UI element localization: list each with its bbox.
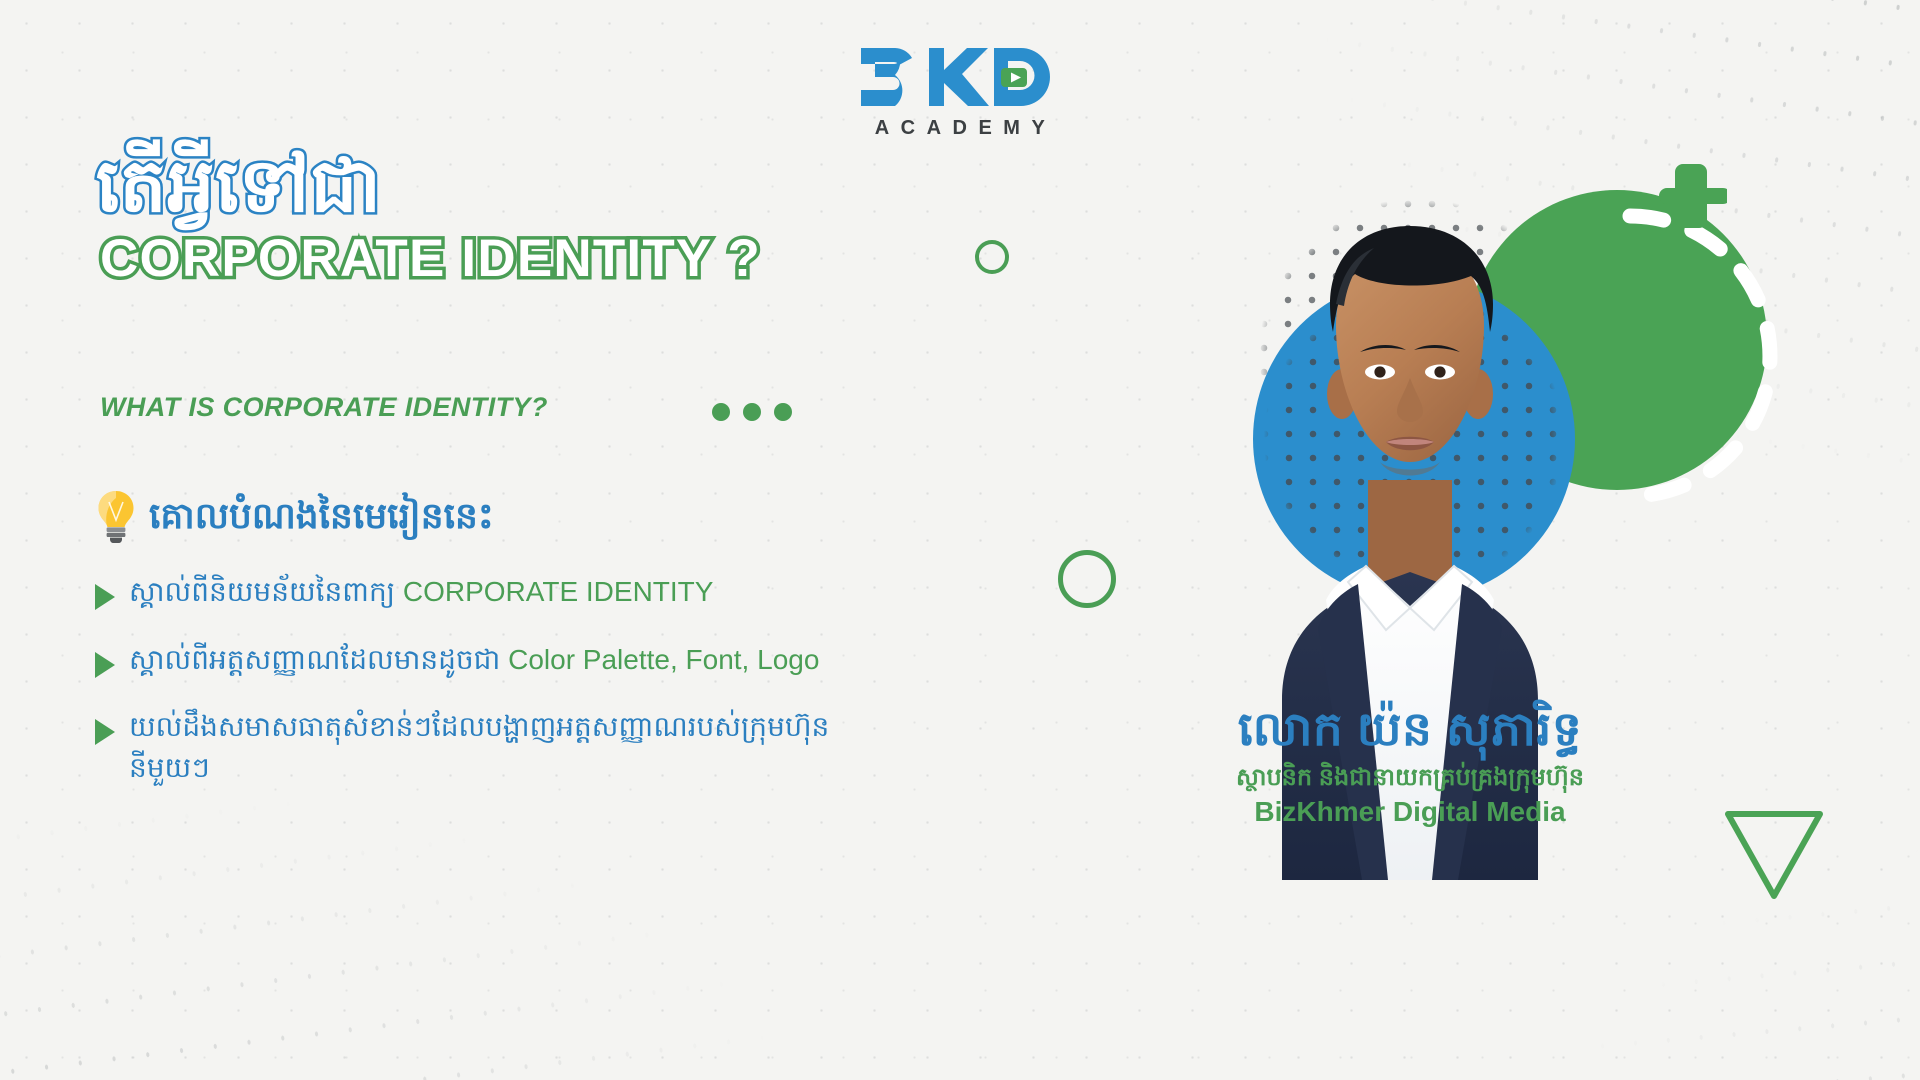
bullet-text: ស្គាល់ពីអត្តសញ្ញាណដែលមានដូចជា Color Pale… [129, 640, 819, 681]
circle-outline-icon [1058, 550, 1116, 608]
objectives-list: ស្គាល់ពីនិយមន័យនៃពាក្យ CORPORATE IDENTIT… [95, 572, 835, 815]
lightbulb-icon [95, 489, 137, 543]
subtitle-english: WHAT IS CORPORATE IDENTITY? [100, 392, 548, 423]
triangle-bullet-icon [95, 584, 115, 610]
speaker-role: ស្ថាបនិក និងជានាយកគ្រប់គ្រងក្រុមហ៊ុន [1100, 762, 1720, 794]
bullet-text: ស្គាល់ពីនិយមន័យនៃពាក្យ CORPORATE IDENTIT… [129, 572, 713, 613]
speaker-name: លោក យ៉ន សុភារិទ្ធ [1100, 700, 1720, 757]
triangle-bullet-icon [95, 652, 115, 678]
logo-wordmark: ACADEMY [855, 117, 1065, 140]
dot-3 [774, 403, 792, 421]
play-icon [1001, 68, 1027, 87]
circle-outline-icon [975, 240, 1009, 274]
plus-icon [1655, 160, 1727, 232]
list-item: យល់ដឹងសមាសធាតុសំខាន់ៗដែលបង្ហាញអត្តសញ្ញាណ… [95, 707, 835, 788]
triangle-outline-icon [1722, 806, 1826, 902]
brand-logo: ACADEMY [855, 46, 1065, 140]
triangle-bullet-icon [95, 719, 115, 745]
three-dots-icon [712, 403, 792, 421]
headline-khmer: តើអ្វីទៅជា [96, 141, 382, 231]
list-item: ស្គាល់ពីនិយមន័យនៃពាក្យ CORPORATE IDENTIT… [95, 572, 835, 613]
bullet-text-english: CORPORATE IDENTITY [403, 576, 714, 607]
slide-canvas: ACADEMY តើអ្វីទៅជា CORPORATE IDENTITY ? … [0, 0, 1920, 1080]
headline-english: CORPORATE IDENTITY ? [100, 227, 761, 291]
dot-1 [712, 403, 730, 421]
list-item: ស្គាល់ពីអត្តសញ្ញាណដែលមានដូចជា Color Pale… [95, 640, 835, 681]
bullet-text: យល់ដឹងសមាសធាតុសំខាន់ៗដែលបង្ហាញអត្តសញ្ញាណ… [129, 707, 835, 788]
lesson-goal-heading: គោលបំណងនៃមេរៀននេះ [95, 489, 494, 543]
bullet-text-english: Color Palette, Font, Logo [508, 644, 819, 675]
lesson-goal-label: គោលបំណងនៃមេរៀននេះ [149, 494, 494, 537]
speaker-info: លោក យ៉ន សុភារិទ្ធ ស្ថាបនិក និងជានាយកគ្រប… [1100, 700, 1720, 831]
speaker-company: BizKhmer Digital Media [1100, 794, 1720, 830]
dot-2 [743, 403, 761, 421]
bkd-logomark-icon [855, 46, 1065, 108]
